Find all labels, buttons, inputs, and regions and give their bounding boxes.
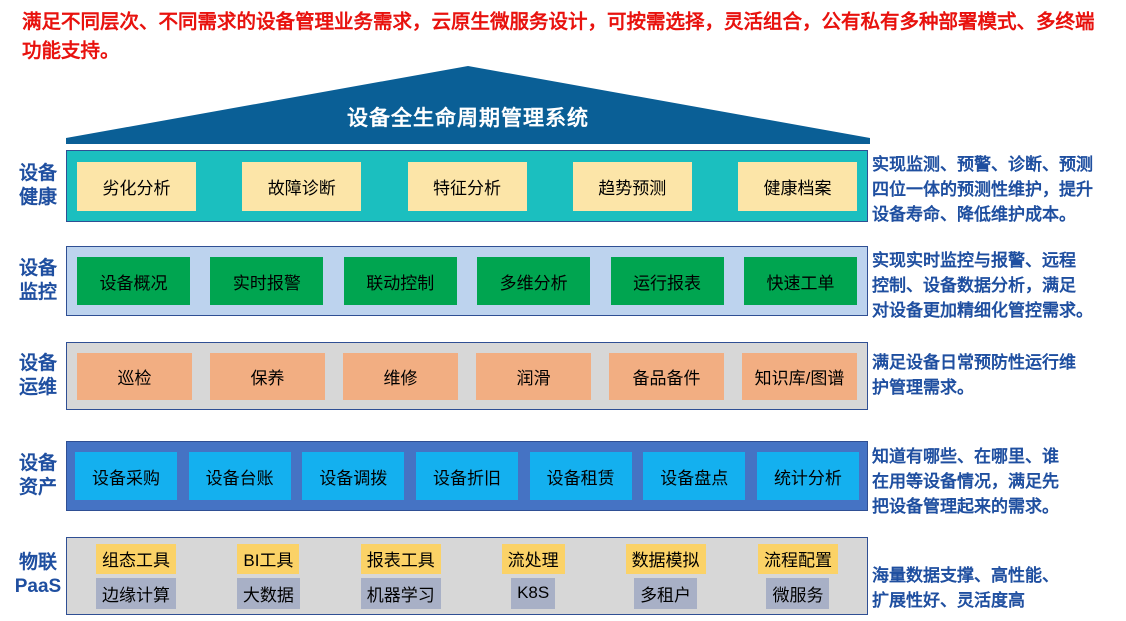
paas-tool-card[interactable]: 流处理 bbox=[502, 544, 565, 574]
layer-description-paas: 海量数据支撑、高性能、 扩展性好、灵活度高 bbox=[872, 563, 1124, 613]
module-card[interactable]: 设备概况 bbox=[77, 257, 190, 305]
module-card[interactable]: 润滑 bbox=[476, 353, 591, 400]
layer-row-monitor-items: 设备概况 实时报警 联动控制 多维分析 运行报表 快速工单 bbox=[67, 257, 867, 305]
module-card[interactable]: 多维分析 bbox=[477, 257, 590, 305]
layer-description-om: 满足设备日常预防性运行维 护管理需求。 bbox=[872, 350, 1124, 400]
layer-row-health-items: 劣化分析 故障诊断 特征分析 趋势预测 健康档案 bbox=[67, 162, 867, 211]
paas-slot: 微服务 bbox=[739, 578, 857, 609]
layer-row-asset-items: 设备采购 设备台账 设备调拨 设备折旧 设备租赁 设备盘点 统计分析 bbox=[67, 452, 867, 500]
module-card[interactable]: 保养 bbox=[210, 353, 325, 400]
paas-top-line: 组态工具 BI工具 报表工具 流处理 数据模拟 流程配置 bbox=[77, 544, 857, 574]
module-card[interactable]: 特征分析 bbox=[408, 162, 527, 211]
paas-infra-card[interactable]: 边缘计算 bbox=[96, 578, 176, 609]
paas-slot: 机器学习 bbox=[342, 578, 460, 609]
paas-slot: 大数据 bbox=[209, 578, 327, 609]
category-label-asset: 设备 资产 bbox=[12, 452, 64, 500]
layer-row-monitor: 设备概况 实时报警 联动控制 多维分析 运行报表 快速工单 bbox=[66, 246, 868, 316]
paas-slot: 流处理 bbox=[474, 544, 592, 574]
layer-description-health: 实现监测、预警、诊断、预测 四位一体的预测性维护，提升 设备寿命、降低维护成本。 bbox=[872, 152, 1124, 227]
module-card[interactable]: 趋势预测 bbox=[573, 162, 692, 211]
module-card[interactable]: 设备盘点 bbox=[643, 452, 745, 500]
paas-slot: 报表工具 bbox=[342, 544, 460, 574]
paas-infra-card[interactable]: K8S bbox=[511, 578, 555, 609]
roof-triangle-shape bbox=[66, 66, 870, 144]
paas-infra-card[interactable]: 机器学习 bbox=[361, 578, 441, 609]
paas-slot: BI工具 bbox=[209, 544, 327, 574]
module-card[interactable]: 巡检 bbox=[77, 353, 192, 400]
paas-tool-card[interactable]: 流程配置 bbox=[758, 544, 838, 574]
paas-tool-card[interactable]: 报表工具 bbox=[361, 544, 441, 574]
layer-row-om-items: 巡检 保养 维修 润滑 备品备件 知识库/图谱 bbox=[67, 353, 867, 400]
paas-infra-card[interactable]: 大数据 bbox=[237, 578, 300, 609]
category-label-om: 设备 运维 bbox=[12, 352, 64, 400]
layer-row-om: 巡检 保养 维修 润滑 备品备件 知识库/图谱 bbox=[66, 342, 868, 410]
paas-slot: K8S bbox=[474, 578, 592, 609]
module-card[interactable]: 劣化分析 bbox=[77, 162, 196, 211]
module-card[interactable]: 健康档案 bbox=[738, 162, 857, 211]
layer-row-paas: 组态工具 BI工具 报表工具 流处理 数据模拟 流程配置 边缘计算 大数据 机器… bbox=[66, 537, 868, 615]
category-label-health: 设备 健康 bbox=[12, 162, 64, 210]
paas-tool-card[interactable]: 数据模拟 bbox=[626, 544, 706, 574]
module-card[interactable]: 统计分析 bbox=[757, 452, 859, 500]
module-card[interactable]: 设备折旧 bbox=[416, 452, 518, 500]
layer-row-asset: 设备采购 设备台账 设备调拨 设备折旧 设备租赁 设备盘点 统计分析 bbox=[66, 441, 868, 511]
paas-slot: 多租户 bbox=[607, 578, 725, 609]
system-roof-banner: 设备全生命周期管理系统 bbox=[66, 66, 870, 144]
module-card[interactable]: 设备台账 bbox=[189, 452, 291, 500]
paas-slot: 边缘计算 bbox=[77, 578, 195, 609]
module-card[interactable]: 维修 bbox=[343, 353, 458, 400]
page-headline: 满足不同层次、不同需求的设备管理业务需求，云原生微服务设计，可按需选择，灵活组合… bbox=[22, 8, 1112, 66]
category-label-paas: 物联 PaaS bbox=[12, 551, 64, 599]
paas-infra-card[interactable]: 多租户 bbox=[634, 578, 697, 609]
layer-description-asset: 知道有哪些、在哪里、谁 在用等设备情况，满足先 把设备管理起来的需求。 bbox=[872, 444, 1124, 519]
module-card[interactable]: 设备调拨 bbox=[302, 452, 404, 500]
paas-infra-card[interactable]: 微服务 bbox=[766, 578, 829, 609]
module-card[interactable]: 故障诊断 bbox=[242, 162, 361, 211]
paas-tool-card[interactable]: 组态工具 bbox=[96, 544, 176, 574]
module-card[interactable]: 快速工单 bbox=[744, 257, 857, 305]
category-label-monitor: 设备 监控 bbox=[12, 257, 64, 305]
layer-row-paas-items: 组态工具 BI工具 报表工具 流处理 数据模拟 流程配置 边缘计算 大数据 机器… bbox=[67, 544, 867, 609]
layer-description-monitor: 实现实时监控与报警、远程 控制、设备数据分析，满足 对设备更加精细化管控需求。 bbox=[872, 248, 1124, 323]
paas-slot: 组态工具 bbox=[77, 544, 195, 574]
module-card[interactable]: 设备采购 bbox=[75, 452, 177, 500]
module-card[interactable]: 备品备件 bbox=[609, 353, 724, 400]
paas-tool-card[interactable]: BI工具 bbox=[237, 544, 299, 574]
module-card[interactable]: 实时报警 bbox=[210, 257, 323, 305]
module-card[interactable]: 设备租赁 bbox=[530, 452, 632, 500]
module-card[interactable]: 联动控制 bbox=[344, 257, 457, 305]
paas-slot: 数据模拟 bbox=[607, 544, 725, 574]
module-card[interactable]: 运行报表 bbox=[611, 257, 724, 305]
paas-bottom-line: 边缘计算 大数据 机器学习 K8S 多租户 微服务 bbox=[77, 578, 857, 609]
layer-row-health: 劣化分析 故障诊断 特征分析 趋势预测 健康档案 bbox=[66, 150, 868, 222]
paas-slot: 流程配置 bbox=[739, 544, 857, 574]
module-card[interactable]: 知识库/图谱 bbox=[742, 353, 857, 400]
